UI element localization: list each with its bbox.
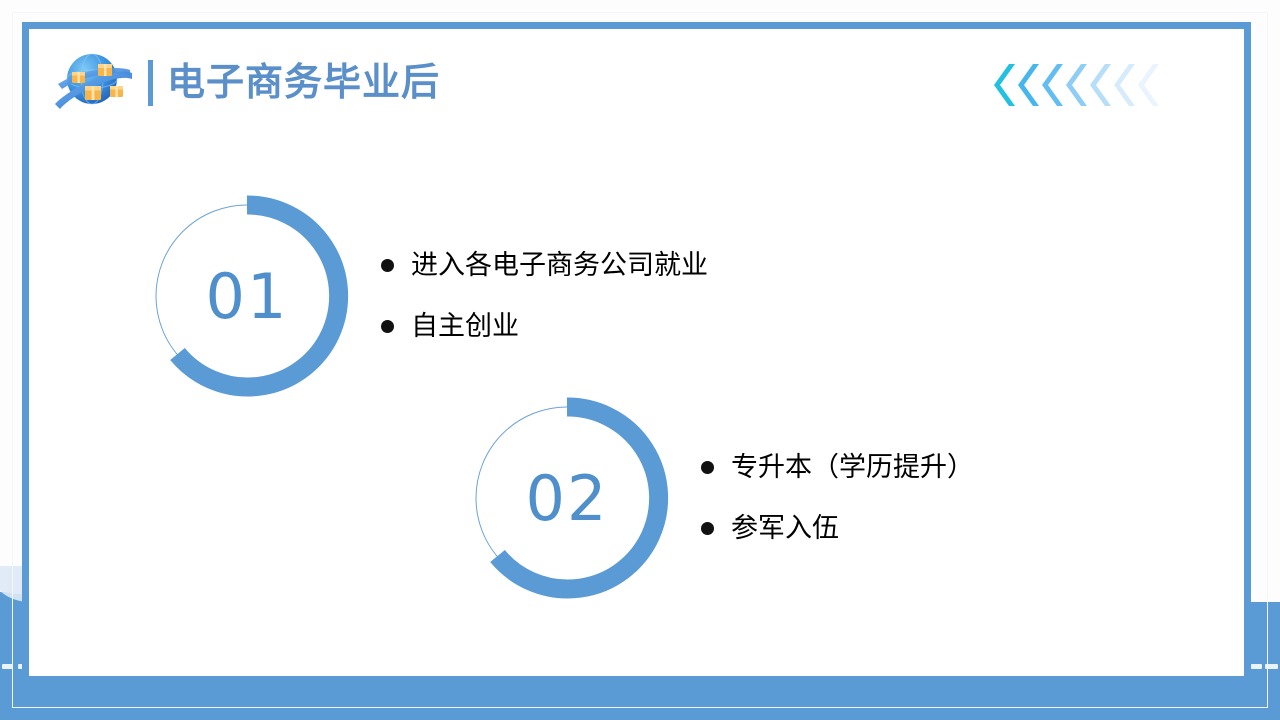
bullet-dot-icon: [701, 522, 714, 535]
chevron-left-icon-5: [1089, 62, 1112, 108]
list-item: 专升本（学历提升）: [701, 454, 974, 481]
title-divider-bar: [148, 60, 153, 106]
slide-canvas: 电子商务毕业后 01 进入各电子商务公司就业 自主创业: [0, 0, 1280, 720]
bullet-dot-icon: [381, 320, 394, 333]
globe-parcel-logo: [52, 46, 134, 120]
step-number-02: 02: [457, 388, 677, 608]
list-item: 参军入伍: [701, 515, 974, 542]
bullet-dot-icon: [701, 461, 714, 474]
step-item-02: 02 专升本（学历提升） 参军入伍: [457, 388, 974, 608]
list-item: 进入各电子商务公司就业: [381, 252, 708, 279]
chevron-left-icon-2: [1017, 62, 1040, 108]
chevron-left-icon-4: [1065, 62, 1088, 108]
step-bullet-list-01: 进入各电子商务公司就业 自主创业: [381, 252, 708, 340]
chevron-left-icon-7: [1137, 62, 1160, 108]
chevron-left-icon-6: [1113, 62, 1136, 108]
step-ring-02: 02: [457, 388, 677, 608]
bullet-text: 自主创业: [411, 313, 519, 340]
bullet-text: 进入各电子商务公司就业: [411, 252, 708, 279]
page-title: 电子商务毕业后: [167, 64, 440, 102]
slide-header: 电子商务毕业后: [52, 40, 440, 126]
step-ring-01: 01: [137, 186, 357, 406]
bullet-dot-icon: [381, 259, 394, 272]
bullet-text: 参军入伍: [731, 515, 839, 542]
list-item: 自主创业: [381, 313, 708, 340]
step-item-01: 01 进入各电子商务公司就业 自主创业: [137, 186, 708, 406]
step-bullet-list-02: 专升本（学历提升） 参军入伍: [701, 454, 974, 542]
bullet-text: 专升本（学历提升）: [731, 454, 974, 481]
step-number-01: 01: [137, 186, 357, 406]
chevron-left-icon-3: [1041, 62, 1064, 108]
chevron-left-icon-1: [993, 62, 1016, 108]
chevron-left-decoration: [993, 62, 1160, 108]
